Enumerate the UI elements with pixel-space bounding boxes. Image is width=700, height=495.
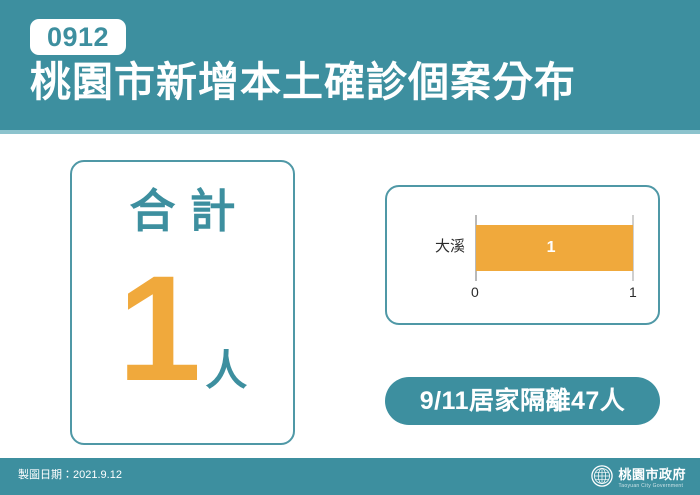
total-count-value: 1: [118, 257, 199, 400]
footer-band: 製圖日期：2021.9.12 桃園市政府 Taoyuan City Govern…: [0, 458, 700, 495]
government-name-en: Taoyuan City Government: [618, 483, 686, 490]
bar-track: 1: [476, 225, 633, 271]
home-quarantine-text: 9/11居家隔離47人: [420, 389, 626, 414]
chart-creation-date: 製圖日期：2021.9.12: [18, 470, 122, 481]
bar-category-label: 大溪: [407, 239, 465, 254]
total-count-unit: 人: [205, 350, 247, 392]
bar-chart: 大溪 1 0 1: [387, 187, 658, 323]
date-badge-label: 0912: [47, 24, 109, 51]
date-badge: 0912: [30, 19, 126, 55]
government-logo: 桃園市政府 Taoyuan City Government: [591, 465, 686, 492]
infographic-poster: 0912 桃園市新增本土確診個案分布 合計 1 人 大溪 1 0 1 9/11居…: [0, 0, 700, 495]
bar-value-label: 1: [547, 225, 556, 271]
x-tick-min: 0: [471, 285, 479, 299]
x-tick-max: 1: [629, 285, 637, 299]
total-cases-card: 合計 1 人: [70, 160, 295, 445]
total-label: 合計: [72, 188, 293, 234]
header-band: 0912 桃園市新增本土確診個案分布: [0, 0, 700, 133]
government-name-zh: 桃園市政府: [618, 468, 686, 483]
home-quarantine-badge: 9/11居家隔離47人: [385, 377, 660, 425]
globe-emblem-icon: [591, 465, 613, 492]
total-figure: 1 人: [72, 257, 293, 400]
header-bottom-edge: [0, 130, 700, 134]
page-title: 桃園市新增本土確診個案分布: [30, 60, 576, 105]
district-bar-chart-card: 大溪 1 0 1: [385, 185, 660, 325]
government-logo-names: 桃園市政府 Taoyuan City Government: [618, 468, 686, 489]
